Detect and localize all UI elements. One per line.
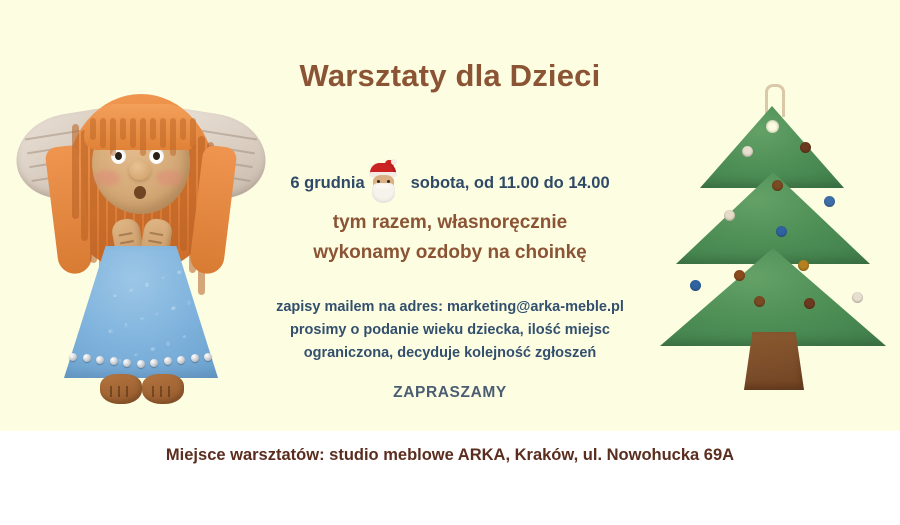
signup-note-line-1: prosimy o podanie wieku dziecka, ilość m… bbox=[214, 319, 686, 342]
workshop-description-line-2: wykonamy ozdoby na choinkę bbox=[232, 238, 668, 268]
tree-ornament-dot bbox=[772, 180, 783, 191]
christmas-tree-ornament bbox=[660, 84, 886, 396]
angel-fringe bbox=[84, 104, 198, 150]
signup-details: zapisy mailem na adres: marketing@arka-m… bbox=[214, 296, 686, 365]
angel-right-cheek bbox=[156, 170, 182, 186]
tree-ornament-dot bbox=[724, 210, 735, 221]
tree-ornament-dot bbox=[734, 270, 745, 281]
workshop-date: 6 grudnia bbox=[290, 174, 364, 193]
workshop-description-line-1: tym razem, własnoręcznie bbox=[232, 208, 668, 238]
angel-dress-bead bbox=[110, 357, 118, 365]
angel-dress-bead bbox=[164, 357, 172, 365]
angel-left-shoe bbox=[100, 374, 142, 404]
angel-dress-bead bbox=[150, 359, 158, 367]
tree-ornament-dot bbox=[754, 296, 765, 307]
angel-dress-bead bbox=[191, 354, 199, 362]
tree-ornament-dot bbox=[798, 260, 809, 271]
tree-ornament-dot bbox=[804, 298, 815, 309]
signup-note-line-2: ograniczona, decyduje kolejność zgłoszeń bbox=[214, 342, 686, 365]
angel-right-eye bbox=[149, 148, 164, 164]
page-title: Warsztaty dla Dzieci bbox=[232, 58, 668, 94]
workshop-datetime: 6 grudnia sobota, od 11.00 do 14.00 bbox=[226, 163, 674, 203]
tree-ornament-dot bbox=[776, 226, 787, 237]
tree-ornament-dot bbox=[824, 196, 835, 207]
angel-nose bbox=[129, 160, 151, 180]
angel-dress-bead bbox=[123, 359, 131, 367]
tree-ornament-dot bbox=[690, 280, 701, 291]
angel-dress-bead bbox=[204, 353, 212, 361]
tree-hanging-hole bbox=[766, 120, 779, 133]
angel-left-cheek bbox=[94, 170, 120, 186]
angel-dress-bead bbox=[96, 356, 104, 364]
workshop-day-and-hours: sobota, od 11.00 do 14.00 bbox=[411, 174, 610, 193]
venue-address: Miejsce warsztatów: studio meblowe ARKA,… bbox=[0, 446, 900, 465]
invitation-text: ZAPRASZAMY bbox=[232, 384, 668, 402]
angel-dress-bead bbox=[83, 354, 91, 362]
workshop-description: tym razem, własnoręcznie wykonamy ozdoby… bbox=[232, 208, 668, 268]
poster-copy: Warsztaty dla Dzieci 6 grudnia sobota, o… bbox=[232, 0, 668, 431]
tree-ornament-dot bbox=[852, 292, 863, 303]
tree-trunk bbox=[744, 332, 804, 390]
santa-claus-icon bbox=[368, 163, 398, 203]
signup-email-line: zapisy mailem na adres: marketing@arka-m… bbox=[214, 296, 686, 319]
angel-mouth bbox=[134, 186, 146, 199]
tree-ornament-dot bbox=[800, 142, 811, 153]
angel-dress-bead bbox=[69, 353, 77, 361]
angel-dress-bead bbox=[177, 356, 185, 364]
poster-canvas: Warsztaty dla Dzieci 6 grudnia sobota, o… bbox=[0, 0, 900, 525]
angel-dress-bead bbox=[137, 360, 145, 368]
angel-right-shoe bbox=[142, 374, 184, 404]
tree-ornament-dot bbox=[742, 146, 753, 157]
